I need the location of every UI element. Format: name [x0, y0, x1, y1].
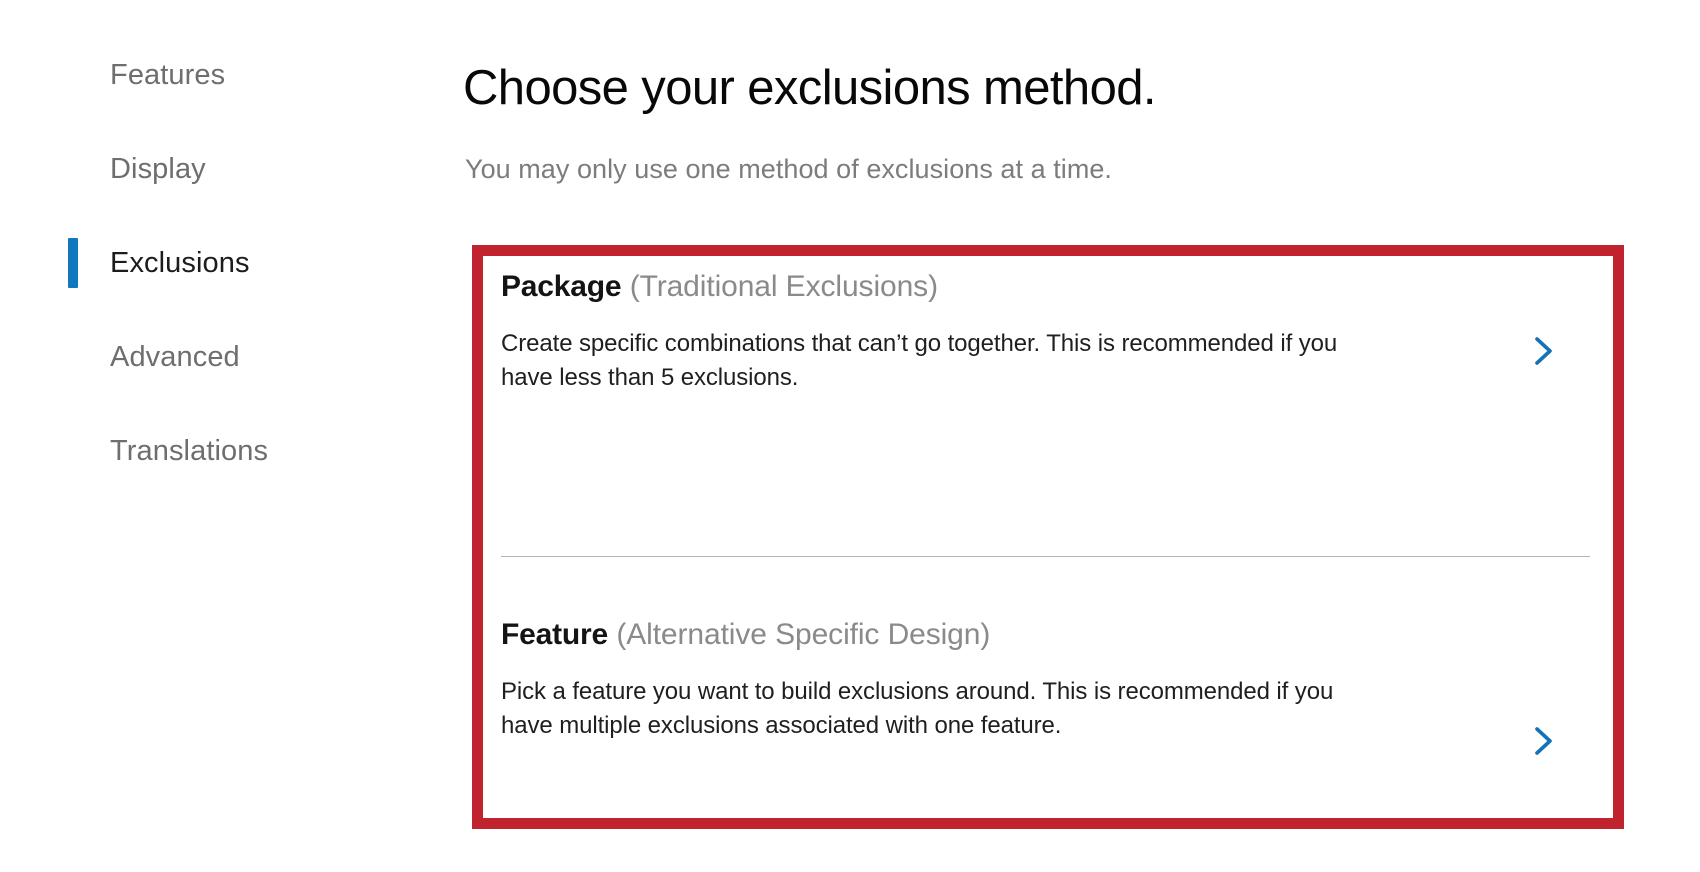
sidebar-item-display[interactable]: Display	[0, 138, 450, 200]
option-name: Package	[501, 270, 621, 303]
option-description: Create specific combinations that can’t …	[501, 327, 1381, 395]
settings-sidebar: Features Display Exclusions Advanced Tra…	[0, 0, 450, 872]
page-subtitle: You may only use one method of exclusion…	[465, 153, 1112, 185]
sidebar-item-exclusions[interactable]: Exclusions	[0, 232, 450, 294]
option-qualifier: (Traditional Exclusions)	[630, 270, 938, 303]
option-description: Pick a feature you want to build exclusi…	[501, 675, 1381, 743]
chevron-right-icon[interactable]	[1526, 724, 1560, 758]
exclusions-method-card: Package (Traditional Exclusions) Create …	[472, 245, 1624, 829]
option-qualifier: (Alternative Specific Design)	[616, 618, 990, 651]
option-heading: Package (Traditional Exclusions)	[501, 268, 1401, 306]
option-package[interactable]: Package (Traditional Exclusions) Create …	[483, 256, 1613, 556]
sidebar-item-label: Exclusions	[110, 249, 250, 278]
sidebar-item-translations[interactable]: Translations	[0, 420, 450, 482]
sidebar-item-label: Advanced	[110, 343, 240, 372]
sidebar-item-features[interactable]: Features	[0, 44, 450, 106]
option-name: Feature	[501, 618, 608, 651]
sidebar-item-label: Features	[110, 61, 225, 90]
option-heading: Feature (Alternative Specific Design)	[501, 616, 1401, 654]
settings-page: Features Display Exclusions Advanced Tra…	[0, 0, 1700, 872]
option-divider	[501, 556, 1590, 557]
page-title: Choose your exclusions method.	[463, 62, 1156, 115]
sidebar-item-label: Translations	[110, 437, 268, 466]
active-indicator-bar	[68, 238, 78, 288]
sidebar-item-label: Display	[110, 155, 206, 184]
chevron-right-icon[interactable]	[1526, 334, 1560, 368]
sidebar-item-advanced[interactable]: Advanced	[0, 326, 450, 388]
main-content: Choose your exclusions method. You may o…	[450, 0, 1700, 872]
option-feature[interactable]: Feature (Alternative Specific Design) Pi…	[483, 616, 1613, 818]
